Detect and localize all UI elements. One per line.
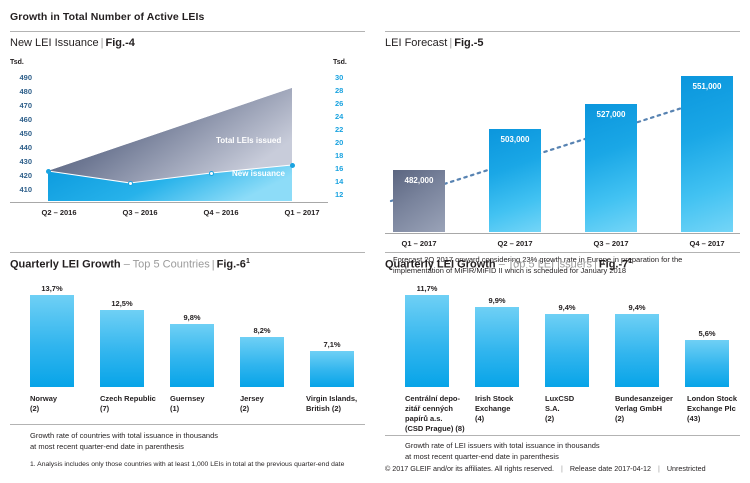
fig7-x-label-line3: (2) (615, 414, 687, 424)
fig4-right-tick: 30 (335, 73, 357, 82)
fig6-note-line1: Growth rate of countries with total issu… (30, 430, 365, 441)
fig5-bar-value: 482,000 (393, 176, 445, 185)
fig6-x-label: Guernsey (1) (170, 394, 236, 414)
fig4-left-tick: 430 (10, 157, 32, 166)
fig4-left-axis-unit: Tsd. (10, 59, 24, 66)
fig6-footnote-marker: 1 (246, 258, 250, 265)
fig6-x-label: Czech Republic (7) (100, 394, 170, 414)
fig6-bar (30, 295, 74, 387)
fig7-note-line2: at most recent quarter-end date in paren… (405, 451, 740, 462)
fig5-label: Fig.-5 (454, 37, 483, 49)
fig7-x-label-line1: Centrální depo- (405, 394, 473, 404)
fig7-bar (405, 295, 449, 387)
dashboard-page: Growth in Total Number of Active LEIs Ne… (0, 0, 750, 483)
fig7-x-label-line3: papírů a.s. (405, 414, 473, 424)
fig5-bar: 527,000 (585, 104, 637, 232)
footer-copyright: © 2017 GLEIF and/or its affiliates. All … (385, 464, 554, 473)
fig6-bar-value: 7,1% (304, 340, 360, 349)
footer-classification: Unrestricted (667, 464, 706, 473)
fig7-x-label-line3: (2) (545, 414, 611, 424)
fig7-bar-value: 11,7% (399, 284, 455, 293)
fig4-data-marker (290, 163, 295, 168)
fig6-x-label-line1: Jersey (240, 394, 306, 404)
fig4-right-tick: 14 (335, 177, 357, 186)
fig4-left-tick: 460 (10, 115, 32, 124)
fig7-bar (545, 314, 589, 387)
fig6-bar-value: 9,8% (164, 313, 220, 322)
fig4-heading: New LEI Issuance|Fig.-4 (10, 37, 135, 49)
fig7-bar-value: 9,9% (469, 296, 525, 305)
fig7-bar-value: 9,4% (539, 303, 595, 312)
fig7-x-label-line2: zitář cenných (405, 404, 473, 414)
fig7-x-label-line3: (43) (687, 414, 750, 424)
fig5-bar-value: 551,000 (681, 82, 733, 91)
fig5-heading: LEI Forecast|Fig.-5 (385, 37, 484, 49)
panel-new-lei-issuance: New LEI Issuance|Fig.-4 Tsd. Tsd. 490 48… (10, 31, 365, 231)
fig6-x-label: Virgin Islands, British (2) (306, 394, 368, 414)
fig4-right-axis-unit: Tsd. (333, 59, 347, 66)
fig4-left-tick: 440 (10, 143, 32, 152)
fig6-subtitle: – Top 5 Countries (124, 259, 210, 271)
fig7-x-label-line1: LuxCSD (545, 394, 611, 404)
fig6-x-label-line2: British (2) (306, 404, 368, 414)
fig6-title: Quarterly LEI Growth (10, 259, 121, 271)
fig6-x-label-line2: (7) (100, 404, 170, 414)
fig4-x-axis (10, 202, 328, 203)
fig7-title: Quarterly LEI Growth (385, 259, 496, 271)
panel-lei-forecast: LEI Forecast|Fig.-5 482,000 503,000 527,… (385, 31, 740, 251)
fig7-bar-value: 5,6% (679, 329, 735, 338)
fig7-x-label-line2: Verlag GmbH (615, 404, 687, 414)
fig5-x-label: Q3 – 2017 (576, 239, 646, 248)
fig4-series-label-total: Total LEIs issued (216, 136, 281, 145)
fig5-bar-value: 503,000 (489, 135, 541, 144)
fig4-left-tick: 420 (10, 171, 32, 180)
fig6-x-label-line1: Czech Republic (100, 394, 170, 404)
fig7-footnote-marker: 1 (628, 258, 632, 265)
panel-divider (10, 31, 365, 32)
fig6-bar (100, 310, 144, 387)
fig7-bar-value: 9,4% (609, 303, 665, 312)
fig4-right-tick: 18 (335, 151, 357, 160)
fig7-x-label: LuxCSD S.A. (2) (545, 394, 611, 424)
fig6-note: Growth rate of countries with total issu… (30, 430, 365, 452)
fig7-label: Fig.-7 (599, 259, 628, 271)
fig6-x-label-line1: Guernsey (170, 394, 236, 404)
fig4-left-tick: 410 (10, 185, 32, 194)
fig6-bar-value: 13,7% (24, 284, 80, 293)
fig7-bar (615, 314, 659, 387)
fig6-note-line2: at most recent quarter-end date in paren… (30, 441, 365, 452)
fig7-x-label-line3: (4) (475, 414, 541, 424)
fig4-x-label: Q1 – 2017 (267, 208, 337, 217)
fig4-right-tick: 28 (335, 86, 357, 95)
fig6-x-label: Jersey (2) (240, 394, 306, 414)
fig5-x-label: Q1 – 2017 (384, 239, 454, 248)
fig6-x-label-line2: (2) (240, 404, 306, 414)
fig6-x-label: Norway (2) (30, 394, 96, 414)
fig4-title: New LEI Issuance (10, 37, 99, 49)
footer-separator: | (554, 464, 570, 473)
fig7-separator: | (592, 259, 599, 271)
fig4-left-tick: 450 (10, 129, 32, 138)
fig4-right-tick: 26 (335, 99, 357, 108)
fig4-label: Fig.-4 (106, 37, 135, 49)
fig5-x-axis (385, 233, 740, 234)
fig7-x-label-line2: S.A. (545, 404, 611, 414)
fig4-data-marker (209, 171, 214, 176)
panel-growth-issuers: Quarterly LEI Growth – Top 5 LEI issuers… (385, 252, 740, 482)
fig6-bar (310, 351, 354, 387)
fig7-x-label-line1: Irish Stock (475, 394, 541, 404)
fig4-x-label: Q3 – 2016 (105, 208, 175, 217)
fig7-x-label-line2: Exchange Plc (687, 404, 750, 414)
fig4-data-marker (46, 169, 51, 174)
fig6-x-label-line2: (2) (30, 404, 96, 414)
fig6-footnote: 1. Analysis includes only those countrie… (30, 460, 375, 470)
fig4-right-tick: 16 (335, 164, 357, 173)
fig7-x-label: Centrální depo- zitář cenných papírů a.s… (405, 394, 473, 434)
panel-divider (385, 31, 740, 32)
fig6-bar (170, 324, 214, 387)
fig6-separator: | (210, 259, 217, 271)
fig5-bar-value: 527,000 (585, 110, 637, 119)
fig6-x-label-line2: (1) (170, 404, 236, 414)
fig4-left-tick: 470 (10, 101, 32, 110)
footer-release-date: Release date 2017-04-12 (570, 464, 651, 473)
fig5-bar: 551,000 (681, 76, 733, 232)
fig4-series-label-new: New issuance (232, 169, 285, 178)
fig7-note-line1: Growth rate of LEI issuers with total is… (405, 440, 740, 451)
fig4-right-tick: 20 (335, 138, 357, 147)
fig4-right-tick: 22 (335, 125, 357, 134)
fig7-subtitle: – Top 5 LEI issuers (499, 259, 592, 271)
footer-bar: © 2017 GLEIF and/or its affiliates. All … (385, 464, 706, 473)
fig5-title: LEI Forecast (385, 37, 447, 49)
fig6-bar (240, 337, 284, 387)
fig4-x-label: Q4 – 2016 (186, 208, 256, 217)
fig4-separator: | (99, 37, 106, 49)
fig7-note: Growth rate of LEI issuers with total is… (405, 440, 740, 462)
fig6-note-divider (10, 424, 365, 425)
fig6-heading: Quarterly LEI Growth – Top 5 Countries|F… (10, 258, 250, 271)
fig4-area-plot (48, 61, 298, 201)
fig5-x-label: Q4 – 2017 (672, 239, 742, 248)
fig5-bar: 503,000 (489, 129, 541, 232)
fig6-bar-value: 12,5% (94, 299, 150, 308)
fig7-bar (475, 307, 519, 387)
fig7-bar (685, 340, 729, 387)
fig4-left-tick: 480 (10, 87, 32, 96)
fig7-x-label-line2: Exchange (475, 404, 541, 414)
fig6-label: Fig.-6 (217, 259, 246, 271)
panel-divider (385, 252, 740, 253)
fig7-x-label-line1: Bundesanzeiger (615, 394, 687, 404)
fig5-x-label: Q2 – 2017 (480, 239, 550, 248)
fig4-x-label: Q2 – 2016 (24, 208, 94, 217)
fig7-x-label: Bundesanzeiger Verlag GmbH (2) (615, 394, 687, 424)
fig6-x-label-line1: Norway (30, 394, 96, 404)
footer-separator: | (651, 464, 667, 473)
fig4-data-marker (128, 181, 133, 186)
fig7-x-label: London Stock Exchange Plc (43) (687, 394, 750, 424)
fig7-x-label-line4: (CSD Prague) (8) (405, 424, 473, 434)
fig7-x-label: Irish Stock Exchange (4) (475, 394, 541, 424)
fig6-x-label-line1: Virgin Islands, (306, 394, 368, 404)
panel-divider (10, 252, 365, 253)
fig4-left-tick: 490 (10, 73, 32, 82)
fig7-x-label-line1: London Stock (687, 394, 750, 404)
page-title: Growth in Total Number of Active LEIs (10, 11, 204, 23)
fig7-heading: Quarterly LEI Growth – Top 5 LEI issuers… (385, 258, 632, 271)
panel-growth-countries: Quarterly LEI Growth – Top 5 Countries|F… (10, 252, 365, 482)
fig5-bar: 482,000 (393, 170, 445, 232)
fig4-right-tick: 24 (335, 112, 357, 121)
fig4-right-tick: 12 (335, 190, 357, 199)
fig6-bar-value: 8,2% (234, 326, 290, 335)
fig7-note-divider (385, 435, 740, 436)
